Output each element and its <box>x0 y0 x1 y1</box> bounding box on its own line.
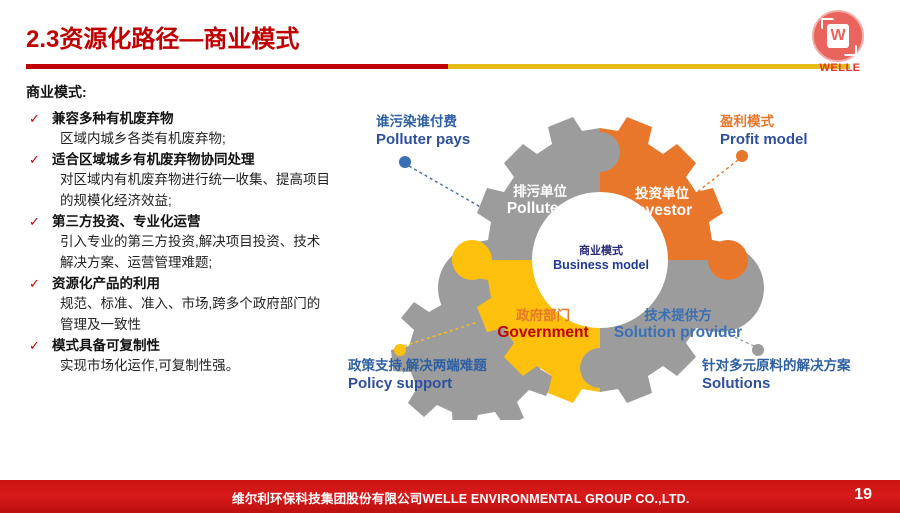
callout-profit-model: 盈利模式 Profit model <box>720 114 808 150</box>
gear-label-polluters: 排污单位 Polluters <box>480 184 600 217</box>
puzzle-knob-top <box>580 132 620 172</box>
gear-core-label: 商业模式 Business model <box>546 245 656 272</box>
callout-en: Policy support <box>348 375 487 394</box>
callout-cn: 针对多元原料的解决方案 <box>702 358 851 375</box>
gear-label-en: Polluters <box>480 200 600 218</box>
callout-en: Solutions <box>702 375 851 394</box>
callout-en: Polluter pays <box>376 131 470 150</box>
callout-cn: 政策支持,解决两端难题 <box>348 358 487 375</box>
gear-core-en: Business model <box>546 258 656 272</box>
callout-polluter-pays: 谁污染谁付费 Polluter pays <box>376 114 470 150</box>
business-model-gear-diagram: 排污单位 Polluters 投资单位 Investor 政府部门 Govern… <box>330 100 890 420</box>
footer-bar: 维尔利环保科技集团股份有限公司WELLE ENVIRONMENTAL GROUP… <box>0 480 900 513</box>
callout-solutions: 针对多元原料的解决方案 Solutions <box>702 358 851 394</box>
gear-label-investor: 投资单位 Investor <box>602 186 722 219</box>
slide-canvas: 2.3资源化路径—商业模式 W WELLE 商业模式: ✓ 兼容多种有机废弃物 … <box>0 0 900 513</box>
gear-core-cn: 商业模式 <box>546 245 656 258</box>
gear-label-cn: 投资单位 <box>602 186 722 202</box>
callout-cn: 谁污染谁付费 <box>376 114 470 131</box>
gear-label-solution-provider: 技术提供方 Solution provider <box>598 308 758 341</box>
footer-company: 维尔利环保科技集团股份有限公司WELLE ENVIRONMENTAL GROUP… <box>232 488 690 507</box>
page-title: 2.3资源化路径—商业模式 <box>26 19 299 54</box>
title-rule-red <box>26 64 448 69</box>
callout-policy-support: 政策支持,解决两端难题 Policy support <box>348 358 487 394</box>
puzzle-knob-left <box>452 240 492 280</box>
logo-wordmark: WELLE <box>812 62 868 74</box>
title-rule-gold <box>448 64 850 69</box>
gear-label-cn: 技术提供方 <box>598 308 758 324</box>
check-icon: ✓ <box>29 337 40 354</box>
leader-line-polluter-pays <box>409 166 482 208</box>
gear-label-en: Government <box>478 324 608 342</box>
gear-label-cn: 排污单位 <box>480 184 600 200</box>
gear-label-en: Investor <box>602 202 722 220</box>
callout-en: Profit model <box>720 131 808 150</box>
gear-label-cn: 政府部门 <box>478 308 608 324</box>
logo-letter: W <box>827 24 849 48</box>
check-icon: ✓ <box>29 275 40 292</box>
page-number: 19 <box>854 486 872 504</box>
gear-label-government: 政府部门 Government <box>478 308 608 341</box>
puzzle-knob-bottom <box>580 348 620 388</box>
list-lead: 商业模式: <box>26 82 392 102</box>
check-icon: ✓ <box>29 151 40 168</box>
welle-logo: W WELLE <box>812 10 874 72</box>
callout-cn: 盈利模式 <box>720 114 808 131</box>
puzzle-knob-right <box>708 240 748 280</box>
check-icon: ✓ <box>29 213 40 230</box>
gear-label-en: Solution provider <box>598 324 758 342</box>
check-icon: ✓ <box>29 110 40 127</box>
